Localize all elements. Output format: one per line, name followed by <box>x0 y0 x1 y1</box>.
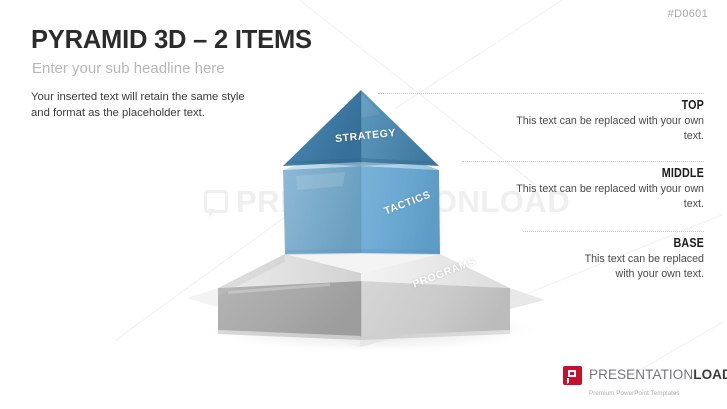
document-id: #D0601 <box>668 8 708 20</box>
connector-line-base <box>523 231 704 232</box>
callout-middle[interactable]: MIDDLE This text can be replaced with yo… <box>504 166 704 211</box>
speech-bubble-icon <box>204 190 228 213</box>
callout-middle-title: MIDDLE <box>532 166 704 180</box>
callout-top[interactable]: TOP This text can be replaced with your … <box>504 98 704 143</box>
callout-top-title: TOP <box>532 98 704 112</box>
tier-label-base: PROGRAMS <box>411 255 478 290</box>
pyramid-floor-shadow <box>194 306 550 354</box>
callout-base[interactable]: BASE This text can be replaced with your… <box>576 236 704 281</box>
logo-name: PRESENTATIONLOAD® <box>589 367 727 382</box>
connector-line-top <box>378 93 704 94</box>
pyramid-shadow-wedge <box>186 288 360 347</box>
slide-canvas: #D0601 PYRAMID 3D – 2 ITEMS Enter your s… <box>0 0 727 409</box>
body-placeholder-text[interactable]: Your inserted text will retain the same … <box>31 90 246 121</box>
callout-base-body[interactable]: This text can be replaced with your own … <box>576 252 704 281</box>
page-title: PYRAMID 3D – 2 ITEMS <box>31 26 312 55</box>
logo-wordmark: PRESENTATIONLOAD® Premium PowerPoint Tem… <box>589 366 727 399</box>
logo-tagline: Premium PowerPoint Templates <box>589 390 680 397</box>
tier-label-middle: TACTICS <box>382 189 432 218</box>
pyramid-shadow-wedge <box>360 288 545 347</box>
presentationload-logo[interactable]: PRESENTATIONLOAD® Premium PowerPoint Tem… <box>563 366 727 399</box>
connector-line-middle <box>462 161 704 162</box>
callout-top-body[interactable]: This text can be replaced with your own … <box>504 114 704 143</box>
background-hairline <box>115 187 326 341</box>
callout-middle-body[interactable]: This text can be replaced with your own … <box>504 182 704 211</box>
logo-name-bold: LOAD <box>693 367 727 382</box>
logo-name-light: PRESENTATION <box>589 367 693 382</box>
callout-base-title: BASE <box>594 236 704 250</box>
pyramid-tier-top <box>283 90 439 166</box>
page-subtitle[interactable]: Enter your sub headline here <box>32 60 225 77</box>
speech-bubble-logo-icon <box>563 366 582 385</box>
tier-label-top: STRATEGY <box>335 127 397 145</box>
